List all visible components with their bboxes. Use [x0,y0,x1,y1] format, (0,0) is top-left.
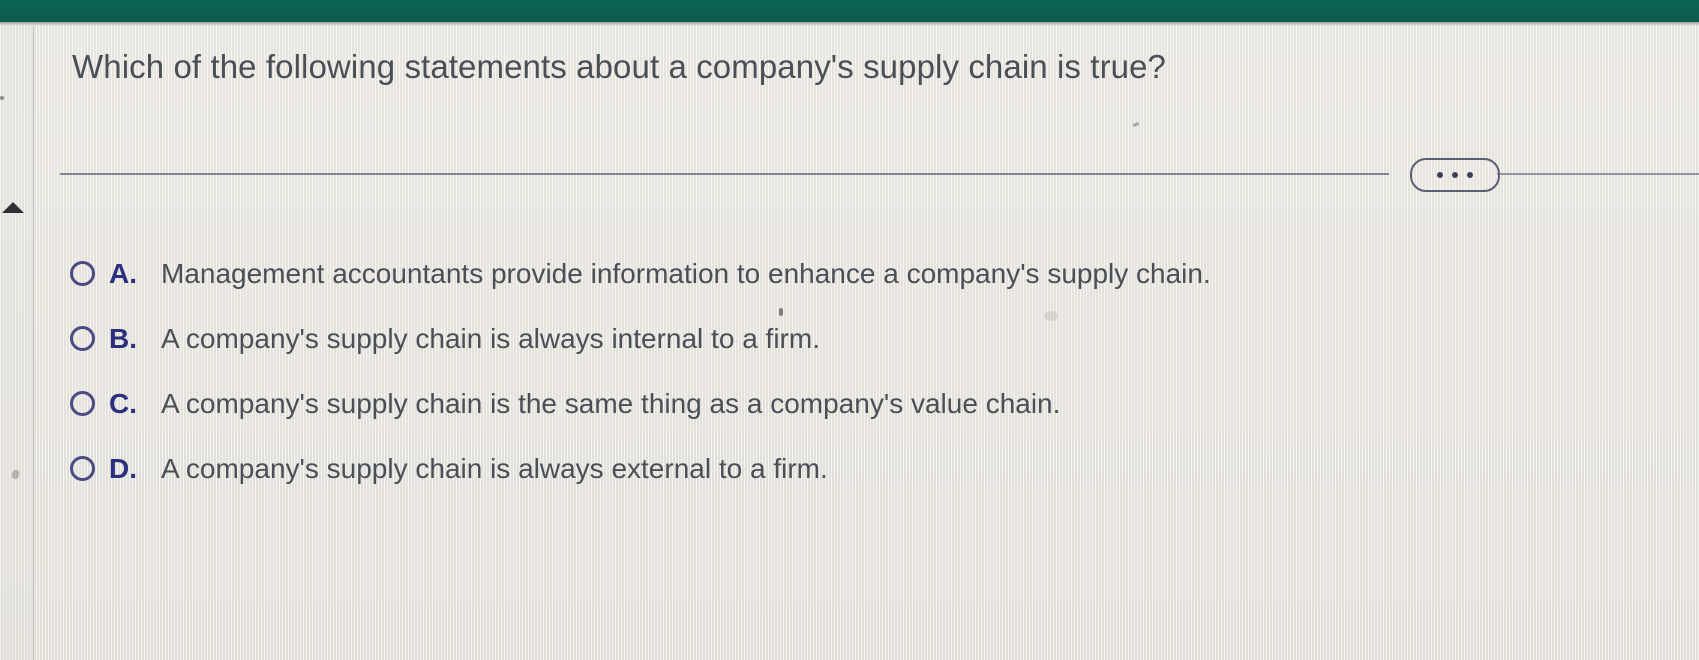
option-text-b: A company's supply chain is always inter… [161,323,820,355]
ellipsis-dot-icon [1437,172,1443,178]
radio-button-a[interactable] [70,261,95,286]
screen-root: Which of the following statements about … [0,0,1699,660]
option-letter-b: B. [109,323,161,355]
app-top-bar [0,0,1699,22]
option-text-c: A company's supply chain is the same thi… [161,388,1060,420]
option-row-d[interactable]: D. A company's supply chain is always ex… [70,436,1670,501]
ellipsis-dot-icon [1452,172,1458,178]
answer-options-list: A. Management accountants provide inform… [70,241,1670,501]
divider-row [60,156,1699,192]
question-prompt: Which of the following statements about … [72,48,1572,86]
option-row-a[interactable]: A. Management accountants provide inform… [70,241,1670,306]
option-letter-c: C. [109,388,161,420]
option-letter-d: D. [109,453,161,485]
ellipsis-dot-icon [1467,172,1473,178]
option-text-d: A company's supply chain is always exter… [161,453,828,485]
left-rail [0,26,33,660]
page-speck [1133,122,1140,127]
rail-speck-top [0,96,4,100]
option-text-a: Management accountants provide informati… [161,258,1211,290]
radio-button-c[interactable] [70,391,95,416]
option-letter-a: A. [109,258,161,290]
dust-speck [779,308,783,316]
radio-button-d[interactable] [70,456,95,481]
more-options-button[interactable] [1410,158,1500,192]
divider-line-left [60,173,1389,175]
radio-button-b[interactable] [70,326,95,351]
question-content-area: Which of the following statements about … [34,26,1699,660]
option-row-b[interactable]: B. A company's supply chain is always in… [70,306,1670,371]
triangle-up-icon[interactable] [2,202,24,213]
divider-line-right [1497,173,1699,175]
option-row-c[interactable]: C. A company's supply chain is the same … [70,371,1670,436]
